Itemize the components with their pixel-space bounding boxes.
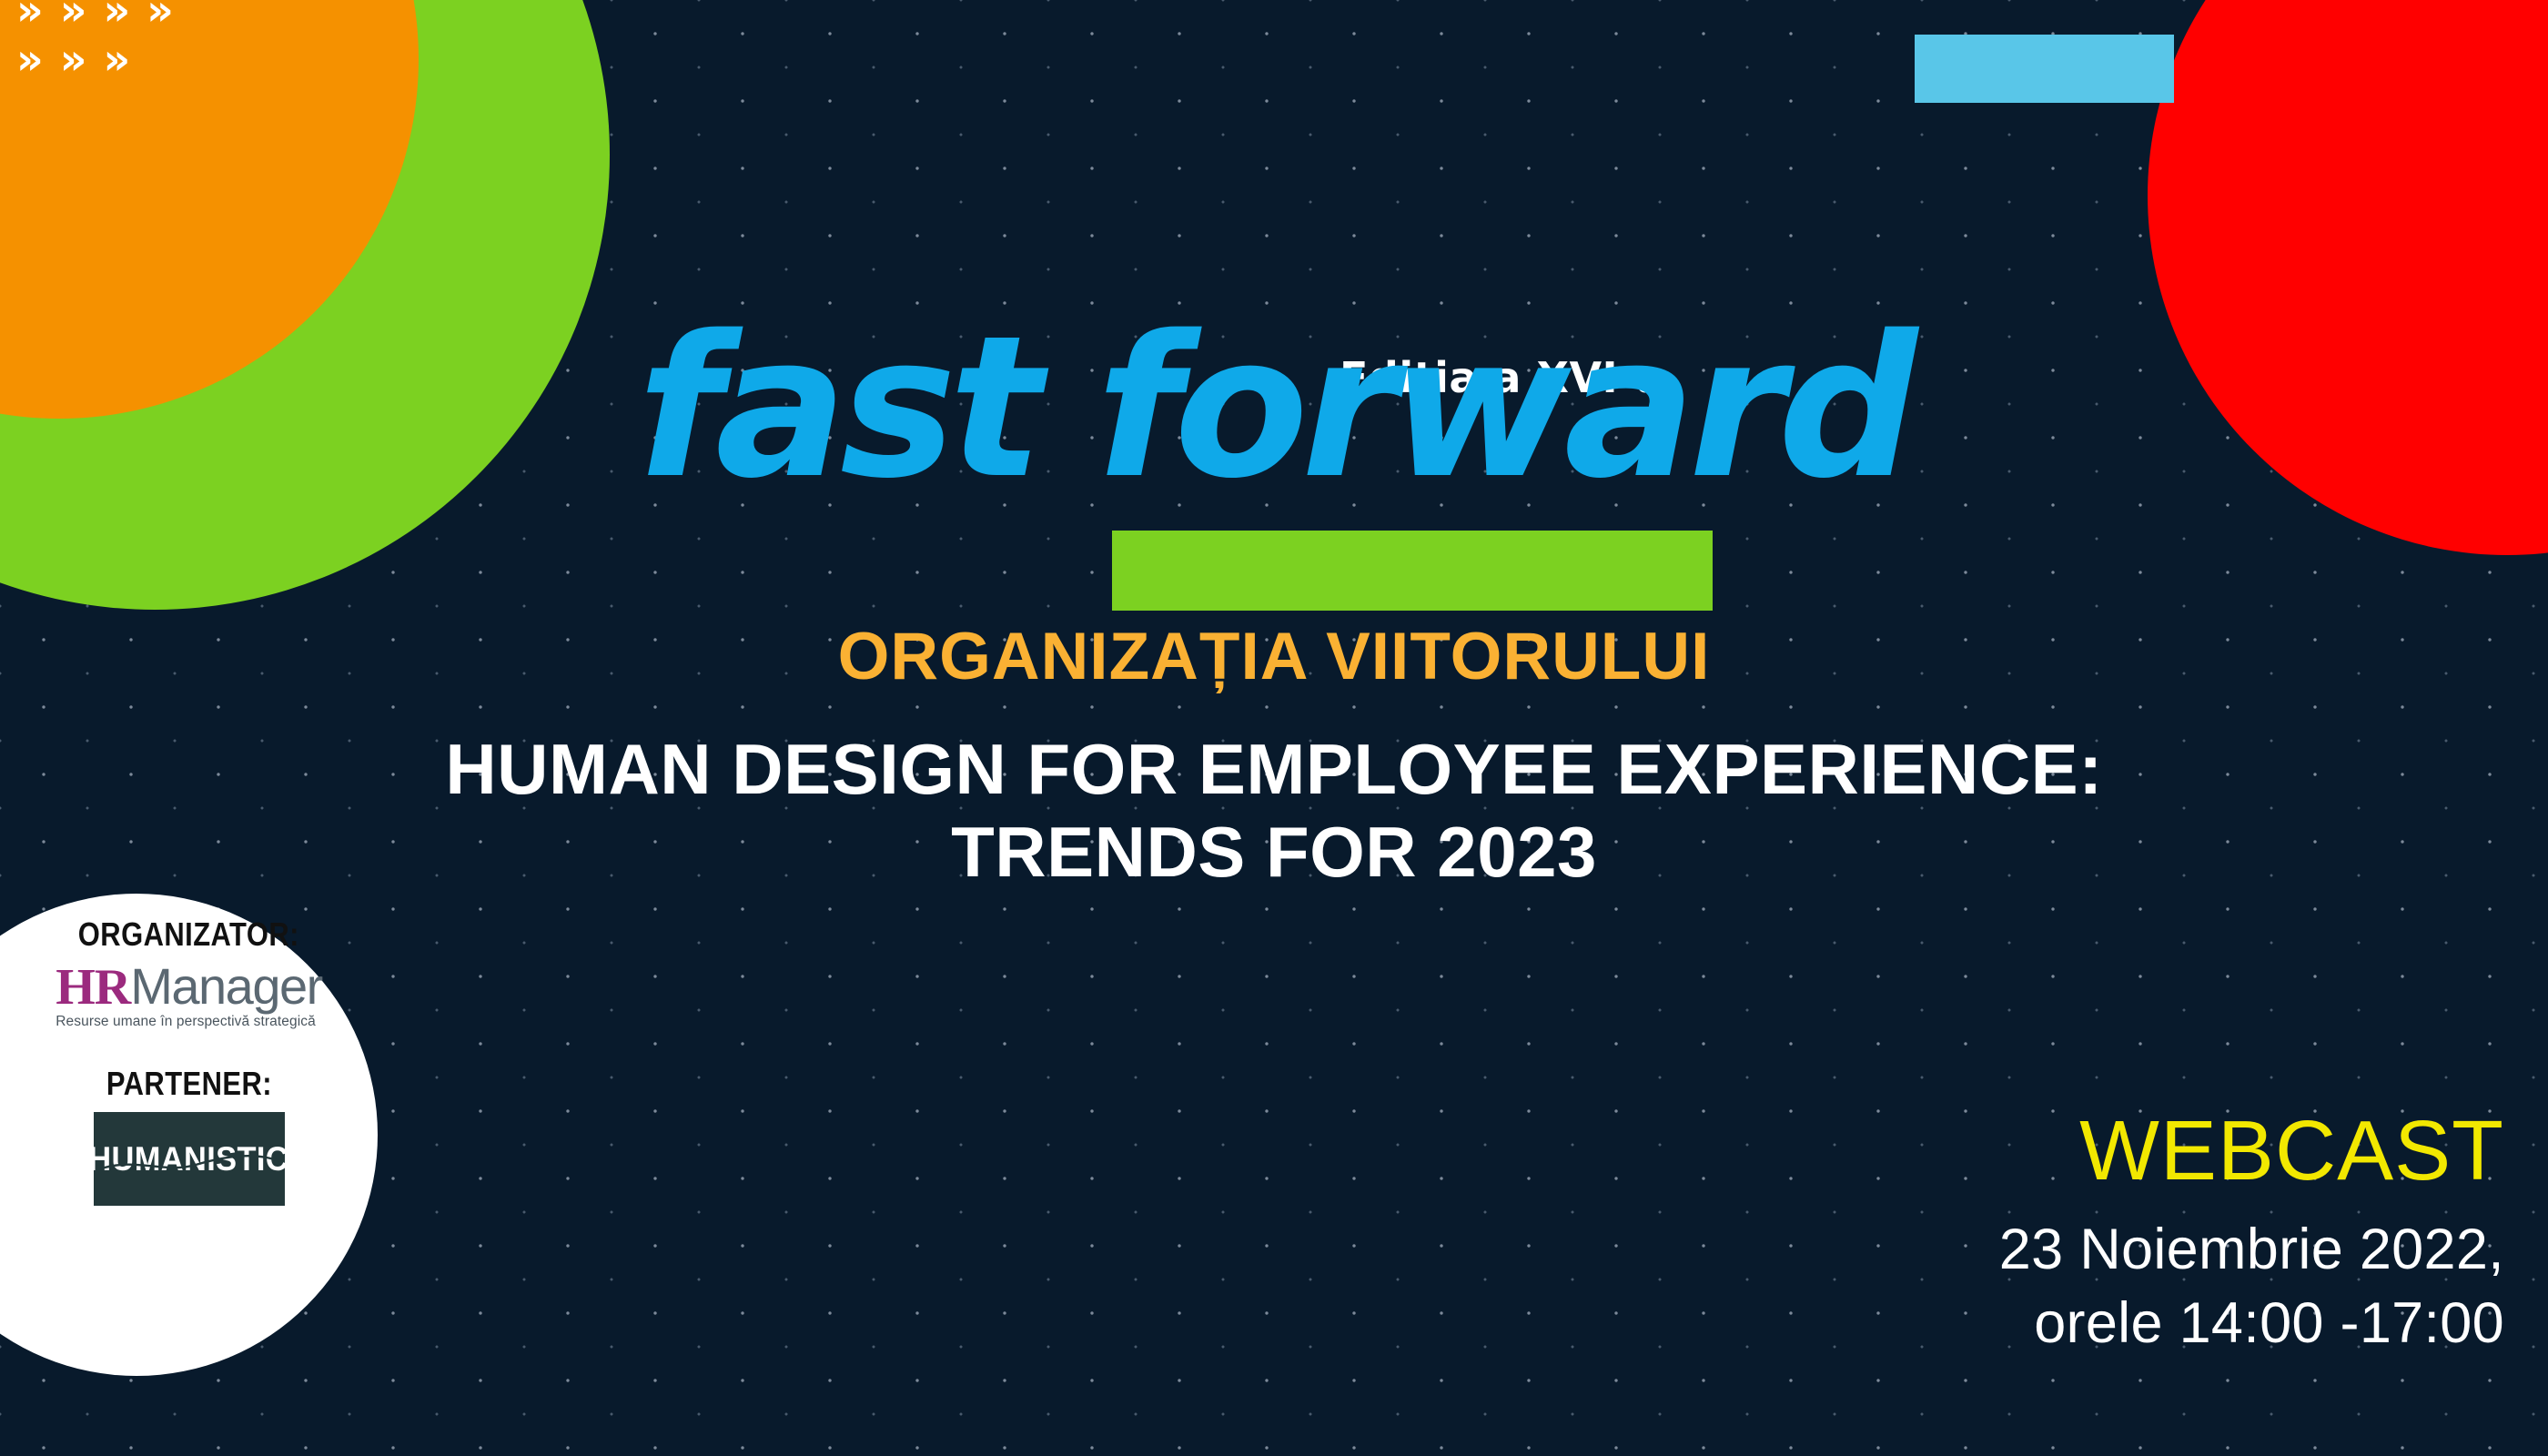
event-title-line-1: HUMAN DESIGN FOR EMPLOYEE EXPERIENCE: [0, 728, 2548, 811]
chevron-icon: » [103, 38, 126, 80]
event-date: 23 Noiembrie 2022, [1999, 1213, 2504, 1287]
event-format-block: WEBCAST 23 Noiembrie 2022, orele 14:00 -… [1999, 1108, 2504, 1360]
chevron-icon: » [16, 0, 40, 31]
event-title: HUMAN DESIGN FOR EMPLOYEE EXPERIENCE: TR… [0, 728, 2548, 895]
hr-manager-logo: HRManager Resurse umane în perspectivă s… [56, 961, 322, 1030]
chevron-icon: » [147, 0, 170, 31]
credits-content: ORGANIZATOR: HRManager Resurse umane în … [0, 894, 378, 1376]
humanistic-logo-wordmark: HUMANISTIC [94, 1140, 285, 1178]
chevron-icon: » [60, 38, 84, 80]
event-title-line-2: TRENDS FOR 2023 [0, 811, 2548, 894]
chevron-icon: » [103, 0, 126, 31]
hr-manager-logo-manager: Manager [130, 957, 322, 1015]
chevron-row: »»» [0, 38, 419, 80]
humanistic-logo: HUMANISTIC [94, 1112, 285, 1206]
partner-label: PARTENER: [106, 1065, 271, 1103]
organizer-label: ORGANIZATOR: [78, 915, 299, 954]
chevron-icon: » [16, 38, 40, 80]
top-right-blue-rectangle-decor [1915, 35, 2174, 103]
event-datetime: 23 Noiembrie 2022, orele 14:00 -17:00 [1999, 1213, 2504, 1360]
chevron-row: »»»» [0, 0, 419, 31]
event-format-label: WEBCAST [1999, 1108, 2504, 1193]
hr-manager-logo-wordmark: HRManager [56, 961, 322, 1013]
logo-lockup: fast forward Ediția a XVI-a [0, 309, 2548, 637]
event-time: orele 14:00 -17:00 [1999, 1287, 2504, 1360]
event-banner: »»»»»»»»»»»»»»»»»»»»»»»»»»»»»»»»»»»»»» f… [0, 0, 2548, 1456]
hr-manager-logo-hr: HR [56, 959, 130, 1016]
wordmark-green-highlight-bar [1112, 531, 1713, 611]
chevron-icon: » [60, 0, 84, 31]
fast-forward-wordmark: fast forward [0, 309, 2548, 505]
credits-circle: ORGANIZATOR: HRManager Resurse umane în … [0, 894, 378, 1376]
hr-manager-logo-tagline: Resurse umane în perspectivă strategică [56, 1014, 316, 1030]
event-subtitle: ORGANIZAȚIA VIITORULUI [0, 619, 2548, 694]
